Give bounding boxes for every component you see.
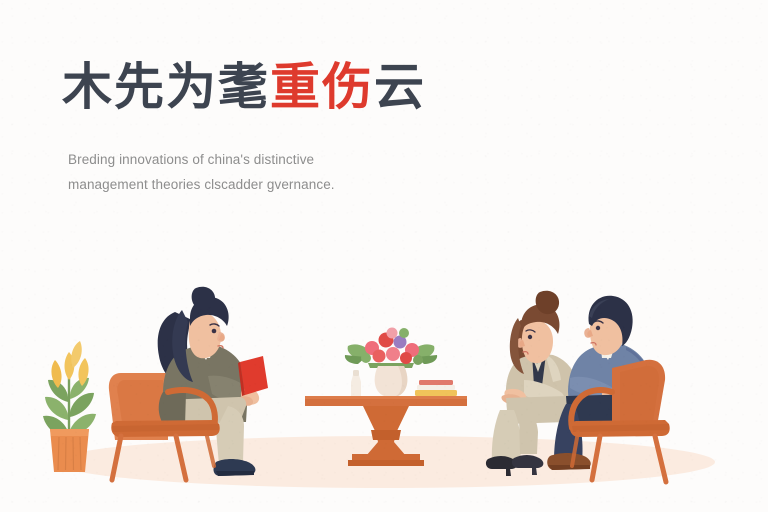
headline-segment-accent: 重伤 (270, 58, 374, 116)
face (522, 320, 553, 363)
headline-segment-dark-1: 木先 (62, 58, 166, 116)
red-book (238, 356, 268, 396)
poster-canvas: 木先为耄重伤云 Breding innovations of china's d… (0, 0, 768, 512)
small-bottle (351, 370, 361, 396)
headline-segment-dark-3: 云 (374, 58, 426, 116)
trousers-leg (492, 410, 521, 462)
headline-segment-dark-2: 为耄 (166, 58, 270, 116)
subtitle-line-2: management theories clscadder gvernance. (68, 173, 398, 198)
meeting-illustration (0, 240, 768, 512)
page-title: 木先为耄重伤云 (62, 62, 426, 112)
book-stack (415, 380, 457, 396)
page-subtitle: Breding innovations of china's distincti… (68, 148, 398, 198)
subtitle-line-1: Breding innovations of china's distincti… (68, 148, 398, 173)
